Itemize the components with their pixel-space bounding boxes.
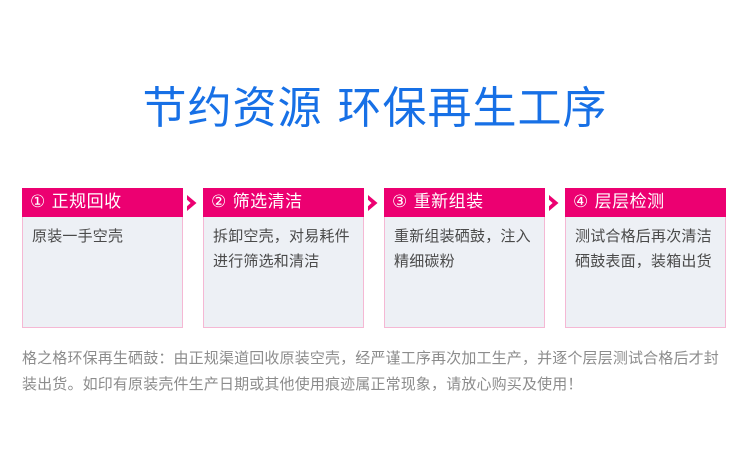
- chevron-right-icon-1: [183, 188, 203, 217]
- step-card-4-body: 测试合格后再次清洁硒鼓表面，装箱出货: [565, 217, 726, 328]
- step-card-3-header: ③ 重新组装: [384, 188, 545, 217]
- step-card-1-body: 原装一手空壳: [22, 217, 183, 328]
- step-card-2-header: ② 筛选清洁: [203, 188, 364, 217]
- step-card-4-header: ④ 层层检测: [565, 188, 726, 217]
- promo-banner: 节约资源 环保再生工序 ① 正规回收 原装一手空壳 ② 筛选清洁 拆卸空壳，对易…: [0, 0, 750, 471]
- chevron-right-icon-3: [545, 188, 565, 217]
- step-card-2-body: 拆卸空壳，对易耗件进行筛选和清洁: [203, 217, 364, 328]
- step-card-2: ② 筛选清洁 拆卸空壳，对易耗件进行筛选和清洁: [203, 188, 364, 328]
- page-title: 节约资源 环保再生工序: [0, 82, 750, 136]
- step-card-1: ① 正规回收 原装一手空壳: [22, 188, 183, 328]
- step-card-1-header: ① 正规回收: [22, 188, 183, 217]
- step-card-3-body: 重新组装硒鼓，注入精细碳粉: [384, 217, 545, 328]
- step-card-3: ③ 重新组装 重新组装硒鼓，注入精细碳粉: [384, 188, 545, 328]
- step-card-4: ④ 层层检测 测试合格后再次清洁硒鼓表面，装箱出货: [565, 188, 726, 328]
- chevron-right-icon-2: [364, 188, 384, 217]
- process-steps-row: ① 正规回收 原装一手空壳 ② 筛选清洁 拆卸空壳，对易耗件进行筛选和清洁 ③ …: [22, 188, 728, 328]
- disclaimer-note: 格之格环保再生硒鼓：由正规渠道回收原装空壳，经严谨工序再次加工生产，并逐个层层测…: [22, 346, 730, 397]
